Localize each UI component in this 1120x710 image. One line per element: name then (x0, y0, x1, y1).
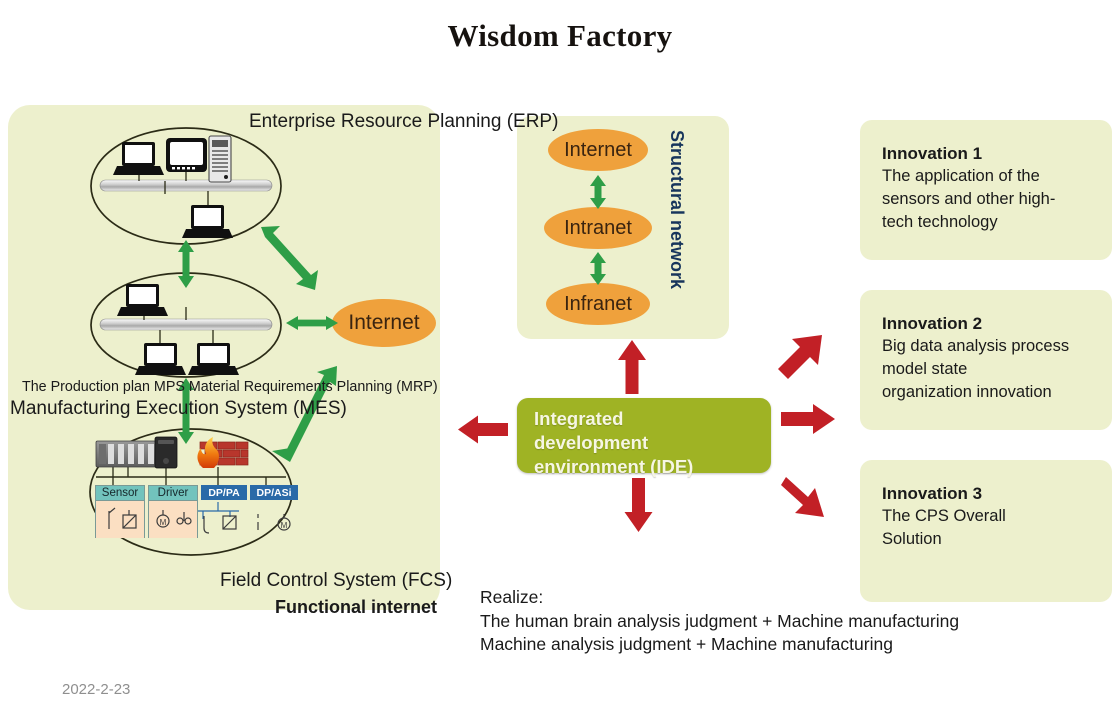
internet-ellipse-label: Internet (348, 311, 419, 335)
structural-layer-infranet-label: Infranet (564, 293, 632, 316)
realize-text-block: Realize: The human brain analysis judgme… (480, 586, 959, 657)
innovation-2-title: Innovation 2 (882, 312, 1102, 335)
red-arrow-down (625, 478, 653, 532)
innovation-card-3[interactable]: Innovation 3 The CPS Overall Solution (860, 460, 1112, 602)
fcs-device-dp-pa[interactable]: DP/PA (201, 485, 247, 502)
fcs-device-dp-pa-label: DP/PA (201, 485, 247, 500)
structural-layer-intranet: Intranet (544, 207, 652, 249)
innovation-3-body: The CPS Overall Solution (882, 505, 1102, 551)
mps-mrp-label: The Production plan MPS Material Require… (22, 379, 438, 395)
structural-layer-intranet-label: Intranet (564, 217, 632, 240)
sensor-symbol-icons (96, 501, 146, 538)
fcs-device-driver-label: Driver (149, 486, 197, 501)
fcs-device-driver-symbols: M (149, 501, 197, 538)
mes-label: Manufacturing Execution System (MES) (10, 398, 347, 420)
red-arrow-right (781, 404, 835, 434)
red-arrow-up (618, 340, 646, 394)
red-arrow-down-right (781, 477, 824, 517)
fcs-device-dp-asi-label: DP/ASi (250, 485, 298, 500)
fcs-label: Field Control System (FCS) (220, 570, 452, 592)
structural-layer-internet-label: Internet (564, 139, 632, 162)
fcs-device-dp-asi[interactable]: DP/ASi (250, 485, 298, 502)
innovation-1-body: The application of the sensors and other… (882, 165, 1102, 234)
ide-box[interactable]: Integrated development environment (IDE) (517, 398, 771, 473)
erp-heading-label: Enterprise Resource Planning (ERP) (249, 111, 558, 133)
structural-network-label: Structural network (663, 130, 687, 330)
internet-ellipse: Internet (332, 299, 436, 347)
innovation-1-title: Innovation 1 (882, 142, 1102, 165)
fcs-device-sensor-label: Sensor (96, 486, 144, 501)
fcs-device-sensor-symbols (96, 501, 144, 538)
innovation-2-body: Big data analysis process model state or… (882, 335, 1102, 404)
structural-layer-infranet: Infranet (546, 283, 650, 325)
dp-asi-symbols: M (248, 508, 302, 545)
dp-pa-symbol-icons (195, 510, 253, 540)
innovation-3-title: Innovation 3 (882, 482, 1102, 505)
red-arrow-left (458, 416, 508, 444)
svg-text:M: M (160, 518, 167, 527)
functional-internet-label: Functional internet (275, 597, 437, 618)
date-stamp: 2022-2-23 (62, 681, 130, 698)
innovation-card-1[interactable]: Innovation 1 The application of the sens… (860, 120, 1112, 260)
dp-pa-symbols (195, 510, 253, 545)
fcs-device-sensor[interactable]: Sensor (95, 485, 145, 538)
svg-text:M: M (281, 521, 288, 530)
fcs-device-driver[interactable]: Driver M (148, 485, 198, 538)
red-arrow-up-right (778, 335, 822, 379)
driver-symbol-icons: M (149, 501, 199, 538)
dp-asi-symbol-icons: M (248, 508, 302, 540)
structural-layer-internet: Internet (548, 129, 648, 171)
innovation-card-2[interactable]: Innovation 2 Big data analysis process m… (860, 290, 1112, 430)
ide-label: Integrated development environment (IDE) (534, 407, 763, 479)
page-title: Wisdom Factory (0, 18, 1120, 54)
